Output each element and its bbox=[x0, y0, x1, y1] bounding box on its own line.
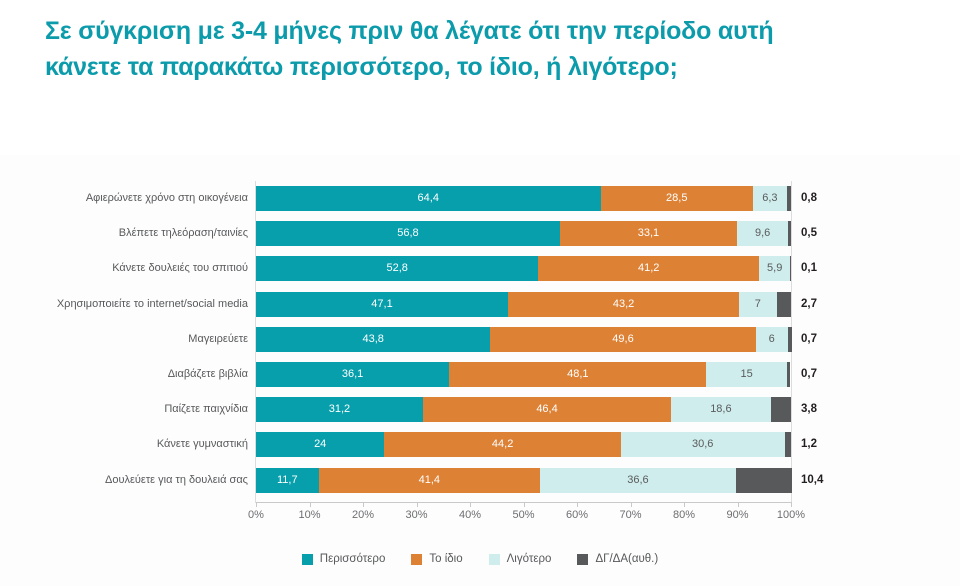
x-axis-tick bbox=[524, 502, 525, 507]
segment-same: 41,2 bbox=[538, 256, 758, 281]
segment-na bbox=[788, 221, 791, 246]
legend-swatch-icon bbox=[302, 554, 313, 565]
segment-na bbox=[771, 397, 791, 422]
segment-more: 56,8 bbox=[256, 221, 560, 246]
segment-more: 36,1 bbox=[256, 362, 449, 387]
category-label: Παίζετε παιχνίδια bbox=[164, 397, 248, 422]
row-value-na: 0,5 bbox=[801, 221, 817, 246]
legend-swatch-icon bbox=[577, 554, 588, 565]
segment-less: 15 bbox=[706, 362, 786, 387]
segment-more: 11,7 bbox=[256, 468, 319, 493]
segment-same: 46,4 bbox=[423, 397, 671, 422]
segment-na bbox=[777, 292, 791, 317]
legend-item[interactable]: Το ίδιο bbox=[411, 553, 462, 565]
segment-same: 43,2 bbox=[508, 292, 739, 317]
x-axis-tick-label: 0% bbox=[226, 509, 286, 521]
x-axis-tick bbox=[310, 502, 311, 507]
x-axis-tick bbox=[256, 502, 257, 507]
legend-label: Το ίδιο bbox=[429, 553, 462, 565]
x-axis-tick-label: 40% bbox=[440, 509, 500, 521]
chart-row: Διαβάζετε βιβλία36,148,1150,7 bbox=[256, 362, 791, 387]
segment-less: 9,6 bbox=[737, 221, 788, 246]
legend-item[interactable]: ΔΓ/ΔΑ(αυθ.) bbox=[577, 553, 658, 565]
segment-less: 6 bbox=[756, 327, 788, 352]
legend-label: Περισσότερο bbox=[320, 553, 386, 565]
chart-row: Δουλεύετε για τη δουλειά σας11,741,436,6… bbox=[256, 468, 791, 493]
row-value-na: 0,7 bbox=[801, 327, 817, 352]
x-axis-tick-label: 60% bbox=[547, 509, 607, 521]
x-axis-tick-label: 100% bbox=[761, 509, 821, 521]
category-label: Μαγειρεύετε bbox=[188, 327, 248, 352]
x-axis-tick-label: 80% bbox=[654, 509, 714, 521]
row-value-na: 0,7 bbox=[801, 362, 817, 387]
category-label: Δουλεύετε για τη δουλειά σας bbox=[105, 468, 248, 493]
category-label: Διαβάζετε βιβλία bbox=[168, 362, 248, 387]
category-label: Χρησιμοποιείτε το internet/social media bbox=[57, 292, 248, 317]
x-axis-tick bbox=[684, 502, 685, 507]
segment-more: 31,2 bbox=[256, 397, 423, 422]
category-label: Βλέπετε τηλεόραση/ταινίες bbox=[119, 221, 248, 246]
x-axis-tick-label: 30% bbox=[387, 509, 447, 521]
x-axis-tick-label: 50% bbox=[494, 509, 554, 521]
legend-swatch-icon bbox=[489, 554, 500, 565]
segment-less: 30,6 bbox=[621, 432, 785, 457]
x-axis-tick-label: 20% bbox=[333, 509, 393, 521]
segment-na bbox=[790, 256, 791, 281]
legend-swatch-icon bbox=[411, 554, 422, 565]
segment-na bbox=[788, 327, 792, 352]
segment-same: 49,6 bbox=[490, 327, 755, 352]
x-axis-tick-label: 90% bbox=[708, 509, 768, 521]
segment-more: 24 bbox=[256, 432, 384, 457]
x-axis-tick-label: 10% bbox=[280, 509, 340, 521]
segment-more: 43,8 bbox=[256, 327, 490, 352]
x-axis-tick bbox=[738, 502, 739, 507]
category-label: Κάνετε δουλειές του σπιτιού bbox=[112, 256, 248, 281]
chart-row: Βλέπετε τηλεόραση/ταινίες56,833,19,60,5 bbox=[256, 221, 791, 246]
chart-row: Χρησιμοποιείτε το internet/social media4… bbox=[256, 292, 791, 317]
segment-na bbox=[787, 186, 791, 211]
category-label: Αφιερώνετε χρόνο στη οικογένεια bbox=[86, 186, 248, 211]
chart-row: Κάνετε γυμναστική2444,230,61,2 bbox=[256, 432, 791, 457]
segment-less: 36,6 bbox=[540, 468, 736, 493]
segment-na bbox=[787, 362, 791, 387]
x-axis-tick bbox=[577, 502, 578, 507]
legend-label: ΔΓ/ΔΑ(αυθ.) bbox=[595, 553, 658, 565]
chart-row: Κάνετε δουλειές του σπιτιού52,841,25,90,… bbox=[256, 256, 791, 281]
x-axis-tick bbox=[470, 502, 471, 507]
row-value-na: 2,7 bbox=[801, 292, 817, 317]
chart-row: Αφιερώνετε χρόνο στη οικογένεια64,428,56… bbox=[256, 186, 791, 211]
x-axis-tick bbox=[791, 502, 792, 507]
x-axis-tick-label: 70% bbox=[601, 509, 661, 521]
segment-same: 48,1 bbox=[449, 362, 706, 387]
segment-more: 47,1 bbox=[256, 292, 508, 317]
legend-item[interactable]: Λιγότερο bbox=[489, 553, 552, 565]
segment-more: 64,4 bbox=[256, 186, 601, 211]
row-value-na: 3,8 bbox=[801, 397, 817, 422]
legend-item[interactable]: Περισσότερο bbox=[302, 553, 386, 565]
page-title: Σε σύγκριση με 3-4 μήνες πριν θα λέγατε … bbox=[45, 14, 845, 85]
row-value-na: 0,8 bbox=[801, 186, 817, 211]
category-label: Κάνετε γυμναστική bbox=[157, 432, 248, 457]
segment-less: 6,3 bbox=[753, 186, 787, 211]
segment-same: 33,1 bbox=[560, 221, 737, 246]
x-axis-tick bbox=[631, 502, 632, 507]
segment-less: 18,6 bbox=[671, 397, 771, 422]
x-axis-tick bbox=[363, 502, 364, 507]
segment-less: 7 bbox=[739, 292, 776, 317]
legend-label: Λιγότερο bbox=[507, 553, 552, 565]
chart-row: Μαγειρεύετε43,849,660,7 bbox=[256, 327, 791, 352]
row-value-na: 10,4 bbox=[801, 468, 823, 493]
segment-less: 5,9 bbox=[759, 256, 791, 281]
row-value-na: 1,2 bbox=[801, 432, 817, 457]
segment-more: 52,8 bbox=[256, 256, 538, 281]
segment-na bbox=[736, 468, 792, 493]
segment-same: 44,2 bbox=[384, 432, 620, 457]
row-value-na: 0,1 bbox=[801, 256, 817, 281]
segment-na bbox=[785, 432, 791, 457]
chart-row: Παίζετε παιχνίδια31,246,418,63,8 bbox=[256, 397, 791, 422]
chart-legend: ΠερισσότεροΤο ίδιοΛιγότεροΔΓ/ΔΑ(αυθ.) bbox=[0, 553, 960, 565]
segment-same: 28,5 bbox=[601, 186, 753, 211]
chart-panel: Αφιερώνετε χρόνο στη οικογένεια64,428,56… bbox=[0, 155, 960, 586]
segment-same: 41,4 bbox=[319, 468, 540, 493]
stacked-bar-plot: Αφιερώνετε χρόνο στη οικογένεια64,428,56… bbox=[256, 186, 791, 502]
x-axis-tick bbox=[417, 502, 418, 507]
